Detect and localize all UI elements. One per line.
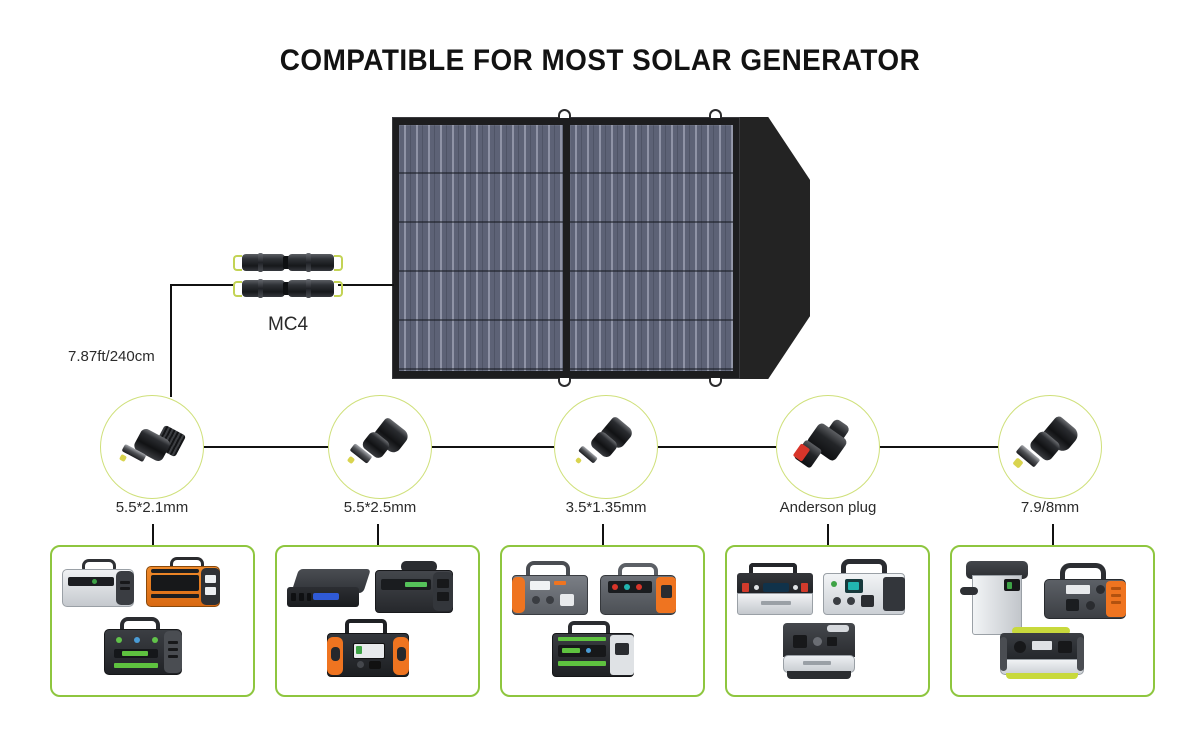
wire-connector-chain-1 [196, 446, 334, 448]
gen-display-text [405, 582, 427, 587]
gen-orange-bumper [512, 577, 525, 613]
gen-led [793, 585, 798, 590]
gen-outlet [205, 575, 216, 583]
wire-stub-box-4 [827, 524, 829, 546]
gen-outlet [793, 635, 807, 648]
gen-led [134, 637, 140, 643]
solar-panel-section-left [399, 125, 563, 371]
generator-grey-orange-display [600, 563, 676, 615]
product-box-4-contents [727, 547, 928, 695]
generator-white-black-top [737, 563, 813, 615]
gen-led [636, 584, 642, 590]
gen-power-led [831, 581, 837, 587]
page-title: COMPATIBLE FOR MOST SOLAR GENERATOR [42, 44, 1158, 78]
generator-white-lime [1000, 627, 1084, 679]
power-bank-blue-led [287, 569, 367, 611]
gen-accent-strip [554, 581, 566, 585]
barrel-plug-icon-dc-5525 [328, 395, 432, 499]
gen-side-rail-right [1077, 637, 1084, 671]
wire-connector-chain-4 [872, 446, 1002, 448]
mc4-connector-pair [236, 252, 340, 302]
gen-outlet [437, 592, 449, 601]
gen-led [586, 648, 591, 653]
panel-grommet-bottom-left [558, 378, 571, 387]
product-box-5-contents [952, 547, 1153, 695]
wire-mc4-to-corner [170, 284, 234, 286]
generator-black-white-base [783, 623, 855, 679]
gen-outlet [1066, 599, 1079, 611]
gen-lime-base [1006, 673, 1078, 679]
connector-label-dc-7988: 7.9/8mm [955, 499, 1145, 516]
connector-label-dc-5525: 5.5*2.5mm [285, 499, 475, 516]
wire-stub-box-1 [152, 524, 154, 546]
battery-tower-silver [966, 561, 1028, 635]
gen-led [152, 637, 158, 643]
gen-bottom-label [114, 663, 158, 668]
anderson-plug-icon [776, 395, 880, 499]
gen-top-grille [558, 637, 606, 641]
wire-stub-box-2 [377, 524, 379, 546]
mc4-label: MC4 [236, 314, 340, 336]
gen-led [612, 584, 618, 590]
gen-base-foot [787, 671, 851, 679]
gen-side-panel [164, 631, 182, 673]
generator-black-green-panel [552, 621, 634, 677]
connector-node-dc-5521[interactable]: 5.5*2.1mm [100, 395, 204, 499]
gen-display-led [356, 646, 362, 654]
gen-power-button [1096, 585, 1105, 594]
gen-outlet [560, 594, 574, 606]
gen-knob [357, 661, 364, 668]
product-box-4[interactable] [725, 545, 930, 697]
gen-brand-text [122, 651, 148, 656]
gen-outlet [861, 595, 874, 607]
gen-vent [1111, 594, 1121, 597]
gen-handle [827, 625, 849, 632]
gen-display [1066, 585, 1090, 594]
gen-side-rail-left [1000, 637, 1007, 671]
solar-panel-section-right [570, 125, 734, 371]
connector-node-anderson[interactable]: Anderson plug [776, 395, 880, 499]
gen-display-led [1007, 582, 1012, 589]
gen-outlet [205, 587, 216, 595]
panel-grommet-top-right [709, 109, 722, 118]
mc4-ring-a-lower [258, 279, 263, 298]
product-box-2-contents [277, 547, 478, 695]
connector-node-dc-5525[interactable]: 5.5*2.5mm [328, 395, 432, 499]
mc4-clip-left-lower [233, 281, 242, 297]
gen-label-strip [151, 569, 199, 573]
connector-node-dc-35135[interactable]: 3.5*1.35mm [554, 395, 658, 499]
product-box-1-contents [52, 547, 253, 695]
gen-outlet [437, 579, 449, 588]
product-box-5[interactable] [950, 545, 1155, 697]
mc4-connector-lower [242, 278, 334, 299]
gen-vent [168, 641, 178, 644]
gen-display-value [848, 582, 859, 590]
generator-orange-grey [512, 561, 588, 615]
gen-vent [120, 587, 130, 590]
gen-led [116, 637, 122, 643]
gen-led [92, 579, 97, 584]
mc4-barrel-right-lower [288, 280, 334, 297]
gen-bottom-strip [151, 594, 199, 598]
gen-display [1032, 641, 1052, 650]
connector-label-anderson: Anderson plug [733, 499, 923, 516]
mc4-clip-left-upper [233, 255, 242, 271]
generator-black-green [104, 617, 182, 675]
mc4-clip-right-lower [334, 281, 343, 297]
mc4-ring-b-lower [306, 279, 311, 298]
gen-display [151, 575, 199, 591]
gen-display-text [562, 648, 580, 653]
mc4-barrel-left-upper [242, 254, 285, 271]
gen-side-handle [960, 587, 978, 595]
gen-outlet [369, 661, 381, 669]
product-box-3[interactable] [500, 545, 705, 697]
product-box-1[interactable] [50, 545, 255, 697]
wire-connector-chain-3 [650, 446, 778, 448]
solar-panel-illustration [392, 117, 810, 379]
gen-vent [168, 648, 178, 651]
gen-knob [1086, 601, 1095, 610]
gen-display [530, 581, 550, 590]
wire-panel-to-mc4 [338, 284, 394, 286]
connector-node-dc-7988[interactable]: 7.9/8mm [998, 395, 1102, 499]
wire-connector-chain-2 [424, 446, 560, 448]
gen-vent [1111, 601, 1121, 604]
gen-outlet [661, 585, 672, 598]
gen-led-strip [313, 593, 339, 600]
mc4-ring-b-upper [306, 253, 311, 272]
barrel-plug-icon-dc-35135 [554, 395, 658, 499]
barrel-plug-icon-dc-5521 [100, 395, 204, 499]
wire-stub-box-3 [602, 524, 604, 546]
gen-port [827, 637, 837, 646]
barrel-plug-icon-dc-7988 [998, 395, 1102, 499]
gen-side-panel [883, 577, 905, 611]
gen-brand-strip [761, 601, 791, 605]
gen-display [763, 583, 789, 592]
gen-side-panel [610, 635, 634, 675]
connector-label-dc-35135: 3.5*1.35mm [511, 499, 701, 516]
gen-bumper-hole-left [331, 647, 340, 661]
generator-grey-orange-side [1044, 563, 1126, 619]
panel-grommet-top-left [558, 109, 571, 118]
cable-length-label: 7.87ft/240cm [68, 348, 155, 365]
gen-port [742, 583, 749, 592]
gen-port [291, 593, 296, 601]
gen-outlet [1058, 641, 1072, 653]
connector-label-dc-5521: 5.5*2.1mm [57, 499, 247, 516]
gen-bottom-label [558, 661, 606, 666]
gen-led [624, 584, 630, 590]
gen-vent [1111, 587, 1121, 590]
generator-orange-ring [327, 619, 409, 677]
mc4-clip-right-upper [334, 255, 343, 271]
product-box-2[interactable] [275, 545, 480, 697]
gen-port [307, 593, 311, 601]
gen-brand-strip [803, 661, 831, 665]
gen-port [801, 583, 808, 592]
gen-vent [168, 655, 178, 658]
generator-orange-black [146, 557, 220, 607]
gen-knob [847, 597, 855, 605]
mc4-barrel-right-upper [288, 254, 334, 271]
gen-port [299, 593, 304, 601]
solar-panel-cell-array [392, 117, 740, 379]
gen-knob [532, 596, 540, 604]
gen-knob [833, 597, 841, 605]
product-box-3-contents [502, 547, 703, 695]
generator-silver-green [62, 559, 134, 607]
mc4-barrel-left-lower [242, 280, 285, 297]
gen-outlet [615, 643, 629, 655]
gen-knob [546, 596, 554, 604]
wire-stub-box-5 [1052, 524, 1054, 546]
mc4-ring-a-upper [258, 253, 263, 272]
gen-outlet-round [1014, 641, 1026, 653]
gen-vent [120, 581, 130, 584]
generator-dark-green-display [375, 561, 453, 613]
generator-white-teal-display [823, 559, 905, 615]
wire-vertical-drop [170, 284, 172, 397]
gen-bumper-hole-right [397, 647, 406, 661]
gen-knob [813, 637, 822, 646]
gen-display [68, 577, 114, 586]
gen-led [754, 585, 759, 590]
panel-grommet-bottom-right [709, 378, 722, 387]
mc4-connector-upper [242, 252, 334, 273]
